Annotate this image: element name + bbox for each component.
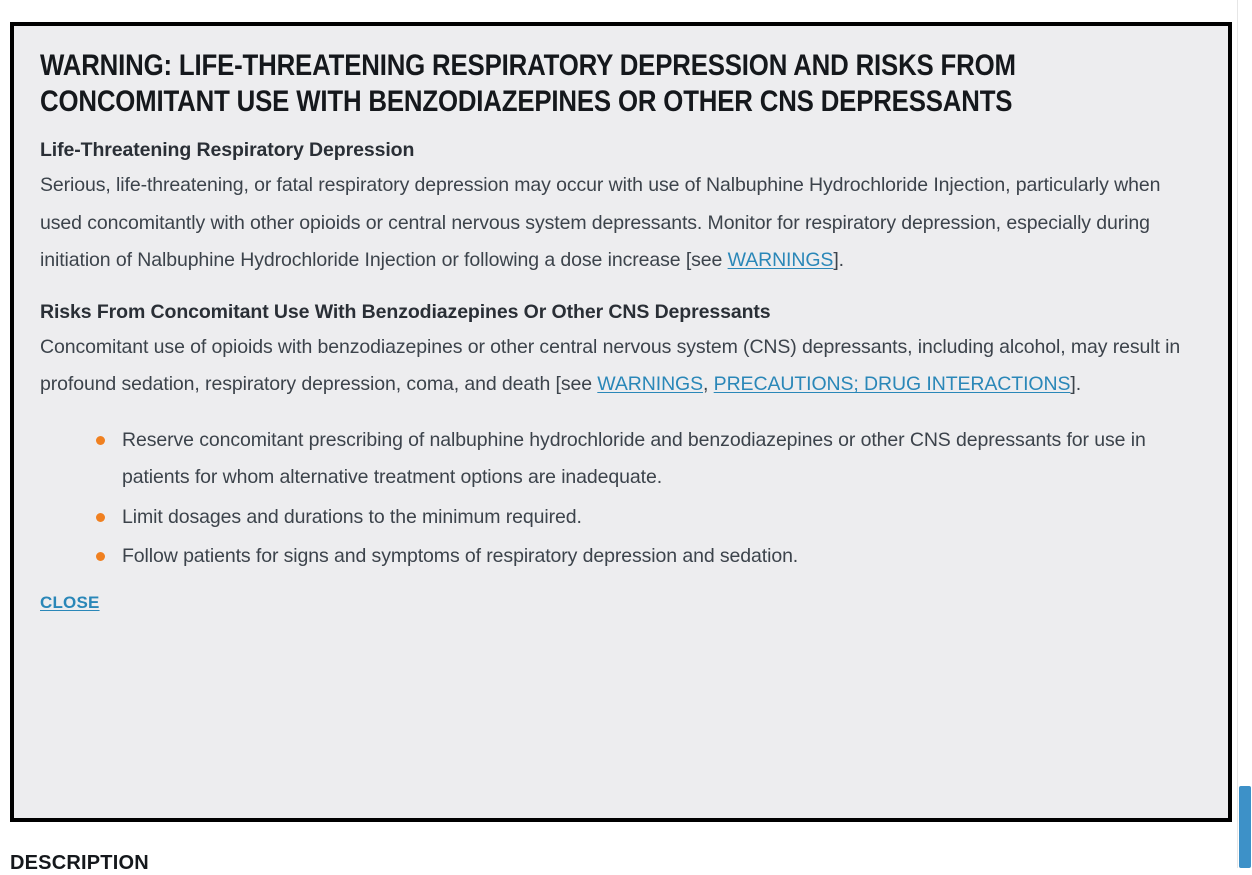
section-heading-concomitant-use: Risks From Concomitant Use With Benzodia… bbox=[40, 298, 1202, 327]
list-item-text: Reserve concomitant prescribing of nalbu… bbox=[122, 429, 1146, 488]
paragraph2-separator: , bbox=[703, 373, 714, 395]
list-item-text: Limit dosages and durations to the minim… bbox=[122, 506, 582, 528]
boxed-warning-bullet-list: Reserve concomitant prescribing of nalbu… bbox=[40, 422, 1202, 576]
list-item-text: Follow patients for signs and symptoms o… bbox=[122, 545, 798, 567]
close-link[interactable]: CLOSE bbox=[40, 593, 100, 612]
next-section-heading-description: DESCRIPTION bbox=[10, 852, 149, 875]
paragraph-text-part-1: Serious, life-threatening, or fatal resp… bbox=[40, 174, 1160, 271]
boxed-warning-panel: WARNING: LIFE-THREATENING RESPIRATORY DE… bbox=[10, 22, 1232, 822]
list-item: Follow patients for signs and symptoms o… bbox=[96, 538, 1182, 575]
bullet-dot-icon bbox=[96, 436, 105, 445]
list-item: Reserve concomitant prescribing of nalbu… bbox=[96, 422, 1182, 497]
paragraph-concomitant-use: Concomitant use of opioids with benzodia… bbox=[40, 329, 1190, 404]
page-scrollbar-thumb[interactable] bbox=[1239, 786, 1251, 868]
document-page: WARNING: LIFE-THREATENING RESPIRATORY DE… bbox=[0, 0, 1252, 868]
section-heading-respiratory-depression: Life-Threatening Respiratory Depression bbox=[40, 136, 1202, 165]
link-warnings-1[interactable]: WARNINGS bbox=[728, 249, 834, 271]
page-scrollbar-track[interactable] bbox=[1237, 0, 1252, 868]
boxed-warning-title: WARNING: LIFE-THREATENING RESPIRATORY DE… bbox=[40, 48, 1201, 120]
link-precautions-drug-interactions[interactable]: PRECAUTIONS; DRUG INTERACTIONS bbox=[714, 373, 1071, 395]
bullet-dot-icon bbox=[96, 513, 105, 522]
paragraph2-text-part-2: ]. bbox=[1070, 373, 1081, 395]
close-link-row: CLOSE bbox=[40, 593, 1202, 613]
link-warnings-2[interactable]: WARNINGS bbox=[597, 373, 703, 395]
list-item: Limit dosages and durations to the minim… bbox=[96, 499, 1182, 536]
paragraph-text-part-2: ]. bbox=[833, 249, 844, 271]
paragraph-respiratory-depression: Serious, life-threatening, or fatal resp… bbox=[40, 167, 1190, 279]
bullet-dot-icon bbox=[96, 552, 105, 561]
